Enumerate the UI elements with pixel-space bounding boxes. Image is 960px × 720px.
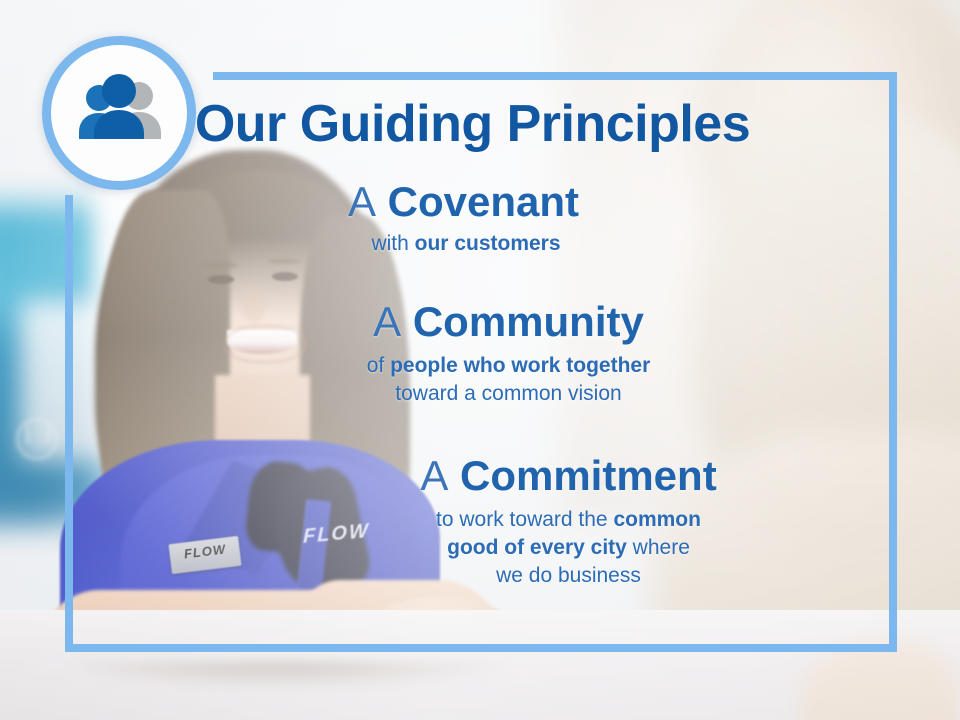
principle-subtext-line: to work toward the common (240, 506, 897, 534)
principle-subtext-line: good of every city where (240, 534, 897, 562)
principle-lead-word: A (420, 452, 448, 499)
principle-community: A Community of people who work together … (65, 300, 897, 408)
principle-title: A Commitment (65, 454, 897, 498)
principle-subtext-line: with our customers (65, 230, 867, 258)
subtext-run: where (627, 536, 690, 559)
principle-subtext: to work toward the common good of every … (65, 506, 897, 589)
principle-covenant: A Covenant with our customers (65, 180, 897, 258)
guiding-principles-graphic: FLOW FLOW (0, 0, 960, 720)
principle-key-word: Community (413, 298, 644, 345)
subtext-run-bold: good of every city (447, 536, 627, 559)
principle-subtext: with our customers (65, 230, 897, 258)
principle-title: A Covenant (65, 180, 897, 224)
subtext-run-bold: people who work together (390, 354, 650, 377)
principle-subtext-line: toward a common vision (120, 380, 897, 408)
subtext-run: to work toward the (436, 508, 613, 531)
principle-key-word: Commitment (460, 452, 717, 499)
principle-subtext: of people who work together toward a com… (65, 352, 897, 407)
principle-lead-word: A (373, 298, 401, 345)
subtext-run-bold: common (613, 508, 701, 531)
principle-commitment: A Commitment to work toward the common g… (65, 454, 897, 589)
subtext-run-bold: our customers (415, 232, 561, 255)
principle-lead-word: A (348, 178, 376, 225)
principle-key-word: Covenant (388, 178, 579, 225)
text-block: Our Guiding Principles A Covenant with o… (65, 72, 897, 652)
page-title: Our Guiding Principles (65, 98, 880, 150)
subtext-run: toward a common vision (395, 382, 621, 405)
principle-subtext-line: we do business (240, 562, 897, 590)
principle-subtext-line: of people who work together (120, 352, 897, 380)
subtext-run: with (371, 232, 414, 255)
principle-title: A Community (65, 300, 897, 344)
subtext-run: of (367, 354, 390, 377)
desk-shadow (60, 662, 520, 690)
subtext-run: we do business (496, 564, 641, 587)
